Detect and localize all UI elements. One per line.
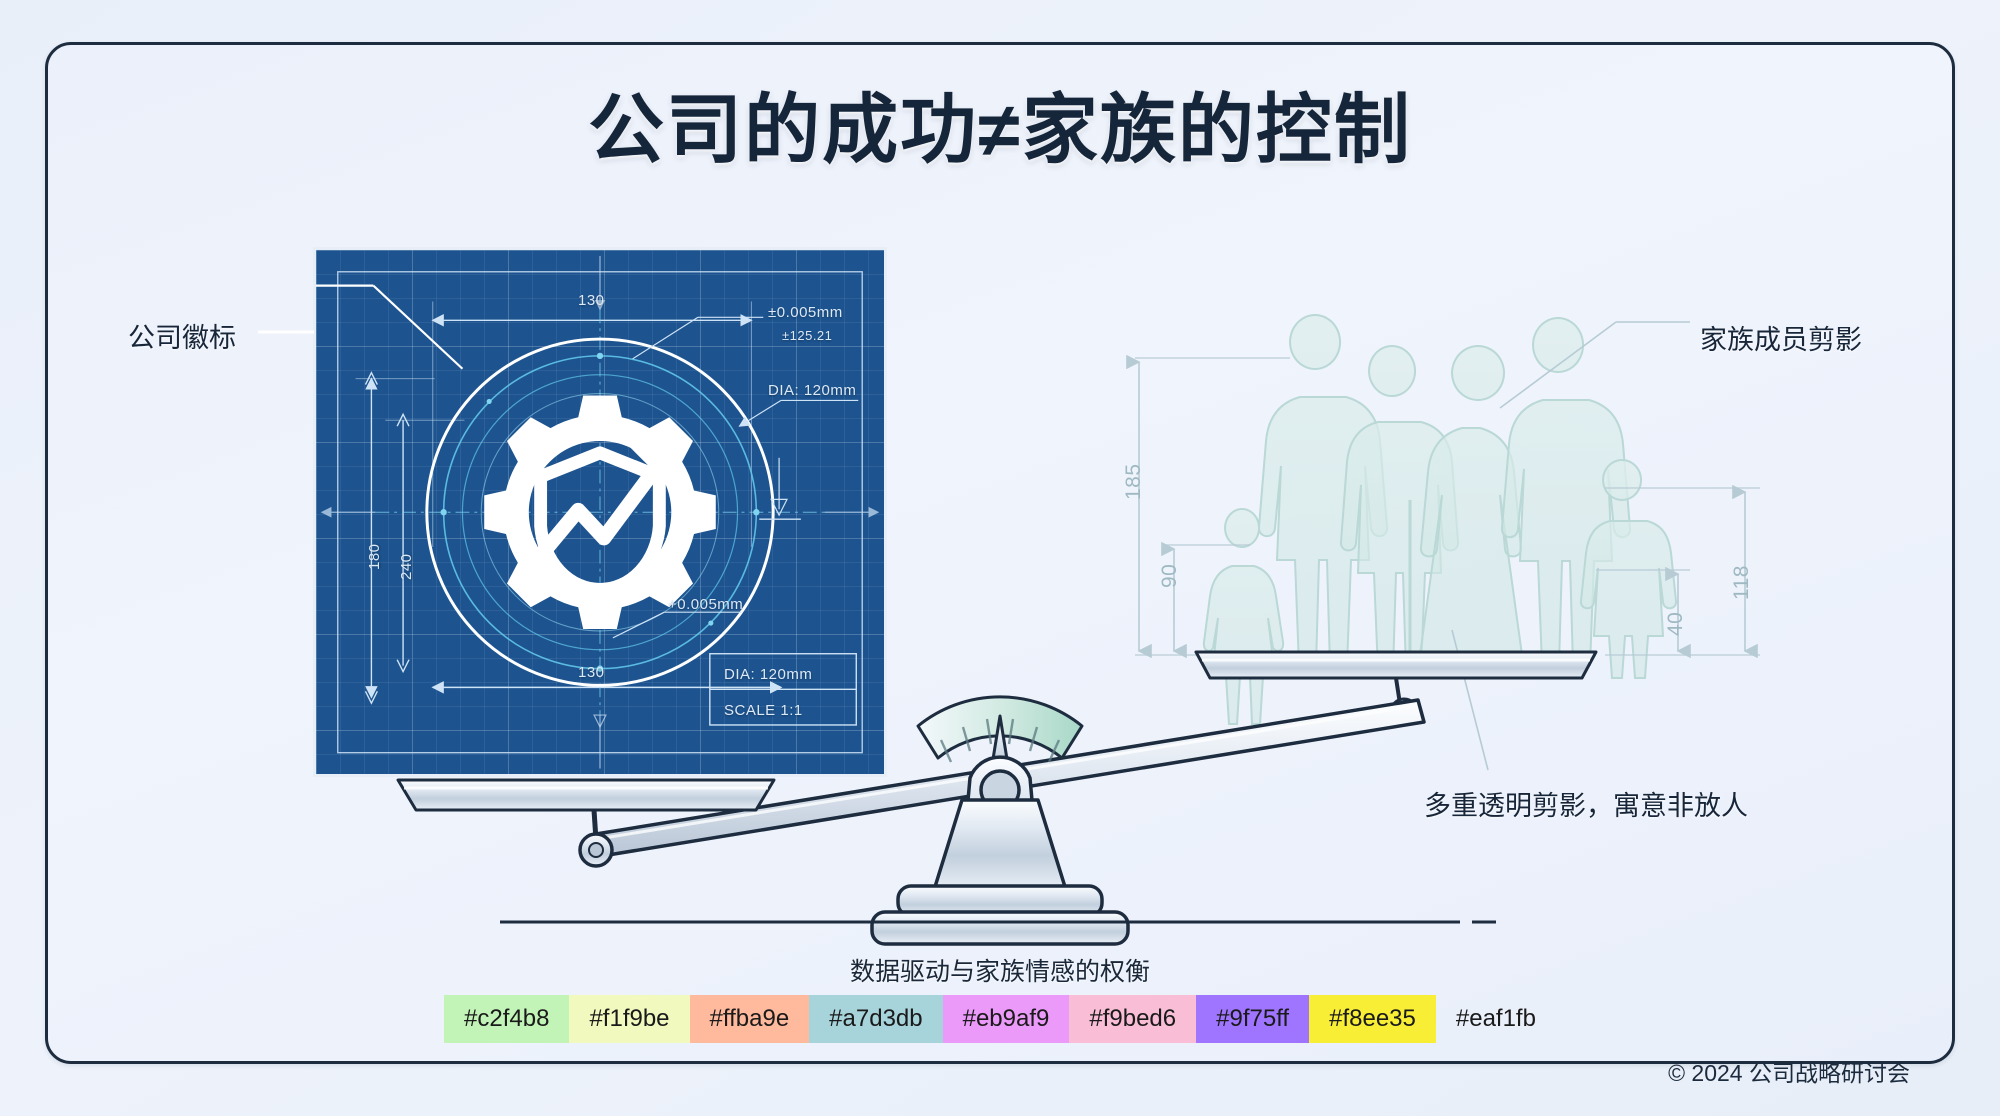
swatch-label-5: #f9bed6 bbox=[1089, 1005, 1176, 1033]
family-dim-overall: 185 bbox=[1122, 463, 1146, 500]
swatch-7[interactable]: #f8ee35 bbox=[1309, 995, 1436, 1043]
poster-canvas: 公司的成功≠家族的控制 bbox=[0, 0, 2000, 1116]
swatch-label-1: #f1f9be bbox=[589, 1005, 669, 1033]
annotation-transparency-note: 多重透明剪影，寓意非放人 bbox=[1424, 784, 1748, 823]
swatch-2[interactable]: #ffba9e bbox=[690, 995, 810, 1043]
swatch-6[interactable]: #9f75ff bbox=[1196, 995, 1309, 1043]
family-dim-group-right: 118 bbox=[1730, 565, 1754, 600]
swatch-4[interactable]: #eb9af9 bbox=[943, 995, 1070, 1043]
color-palette-strip: #c2f4b8 #f1f9be #ffba9e #a7d3db #eb9af9 … bbox=[0, 995, 2000, 1043]
footer-copyright: © 2024 公司战略研讨会 bbox=[1668, 1054, 1910, 1088]
blueprint-callout-tolerance-sub: ±125.21 bbox=[782, 328, 832, 343]
blueprint-dim-left-inner: 180 bbox=[366, 543, 383, 570]
blueprint-callout-diameter: DIA: 120mm bbox=[768, 382, 856, 399]
swatch-label-4: #eb9af9 bbox=[963, 1005, 1050, 1033]
swatch-label-0: #c2f4b8 bbox=[464, 1005, 549, 1033]
annotation-family-silhouette: 家族成员剪影 bbox=[1700, 318, 1862, 357]
swatch-8[interactable]: #eaf1fb bbox=[1436, 995, 1556, 1043]
swatch-3[interactable]: #a7d3db bbox=[809, 995, 942, 1043]
blueprint-callout-tolerance-bottom: +0.005mm bbox=[668, 596, 743, 613]
swatch-1[interactable]: #f1f9be bbox=[569, 995, 689, 1043]
family-dim-child-right: 40 bbox=[1664, 612, 1688, 636]
swatch-label-3: #a7d3db bbox=[829, 1005, 922, 1033]
page-title: 公司的成功≠家族的控制 bbox=[0, 68, 2000, 178]
swatch-label-7: #f8ee35 bbox=[1329, 1005, 1416, 1033]
family-dim-child-left: 90 bbox=[1158, 564, 1182, 588]
blueprint-callout-tolerance-top: ±0.005mm bbox=[768, 304, 843, 321]
scene-caption: 数据驱动与家族情感的权衡 bbox=[0, 952, 2000, 988]
blueprint-titleblock-diameter: DIA: 120mm bbox=[724, 666, 812, 683]
swatch-0[interactable]: #c2f4b8 bbox=[444, 995, 569, 1043]
annotation-company-logo: 公司徽标 bbox=[128, 316, 236, 355]
swatch-label-6: #9f75ff bbox=[1216, 1005, 1289, 1033]
swatch-5[interactable]: #f9bed6 bbox=[1069, 995, 1196, 1043]
blueprint-dim-bottom-width: 130 bbox=[578, 664, 605, 681]
company-logo-blueprint-panel: 130 130 180 240 ±0.005mm ±125.21 DIA: 12… bbox=[313, 247, 887, 777]
swatch-label-2: #ffba9e bbox=[710, 1005, 790, 1033]
blueprint-dim-left-outer: 240 bbox=[398, 553, 415, 580]
swatch-label-8: #eaf1fb bbox=[1456, 1005, 1536, 1033]
blueprint-dim-top-width: 130 bbox=[578, 292, 605, 309]
blueprint-titleblock-scale: SCALE 1:1 bbox=[724, 702, 803, 719]
